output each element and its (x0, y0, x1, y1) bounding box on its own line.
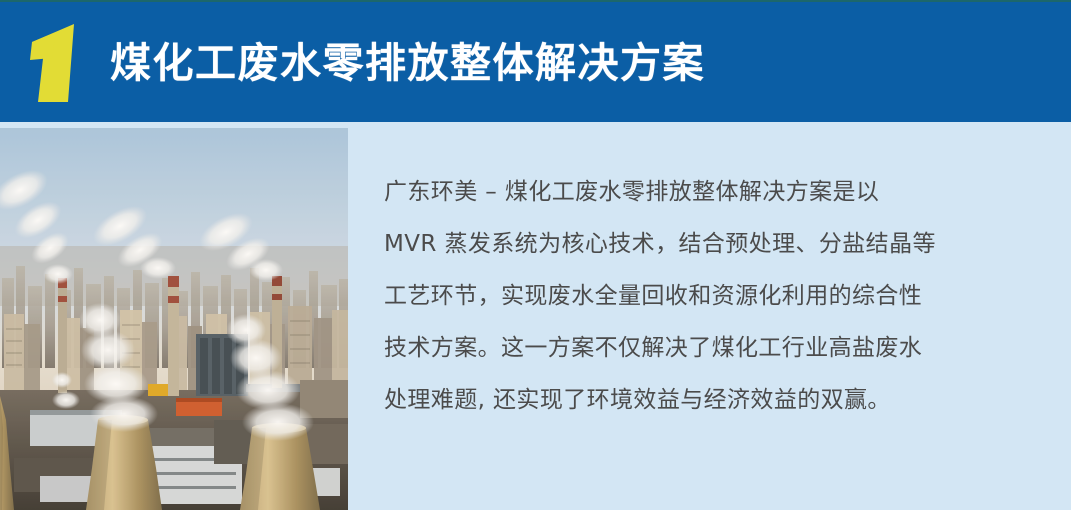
slide-root: 煤化工废水零排放整体解决方案 (0, 0, 1071, 510)
header-banner: 煤化工废水零排放整体解决方案 (0, 0, 1071, 122)
section-number-badge (22, 14, 114, 110)
industrial-plant-photo (0, 128, 348, 510)
paragraph-line: MVR 蒸发系统为核心技术，结合预处理、分盐结晶等 (384, 218, 984, 270)
description-paragraph: 广东环美 – 煤化工废水零排放整体解决方案是以 MVR 蒸发系统为核心技术，结合… (384, 166, 984, 426)
paragraph-line: 技术方案。这一方案不仅解决了煤化工行业高盐废水 (384, 322, 984, 374)
paragraph-line: 工艺环节，实现废水全量回收和资源化利用的综合性 (384, 270, 984, 322)
paragraph-line: 处理难题, 还实现了环境效益与经济效益的双赢。 (384, 374, 984, 426)
page-title: 煤化工废水零排放整体解决方案 (110, 38, 705, 88)
photo-canvas (0, 128, 348, 510)
paragraph-line: 广东环美 – 煤化工废水零排放整体解决方案是以 (384, 166, 984, 218)
header-top-rule (0, 0, 1071, 2)
